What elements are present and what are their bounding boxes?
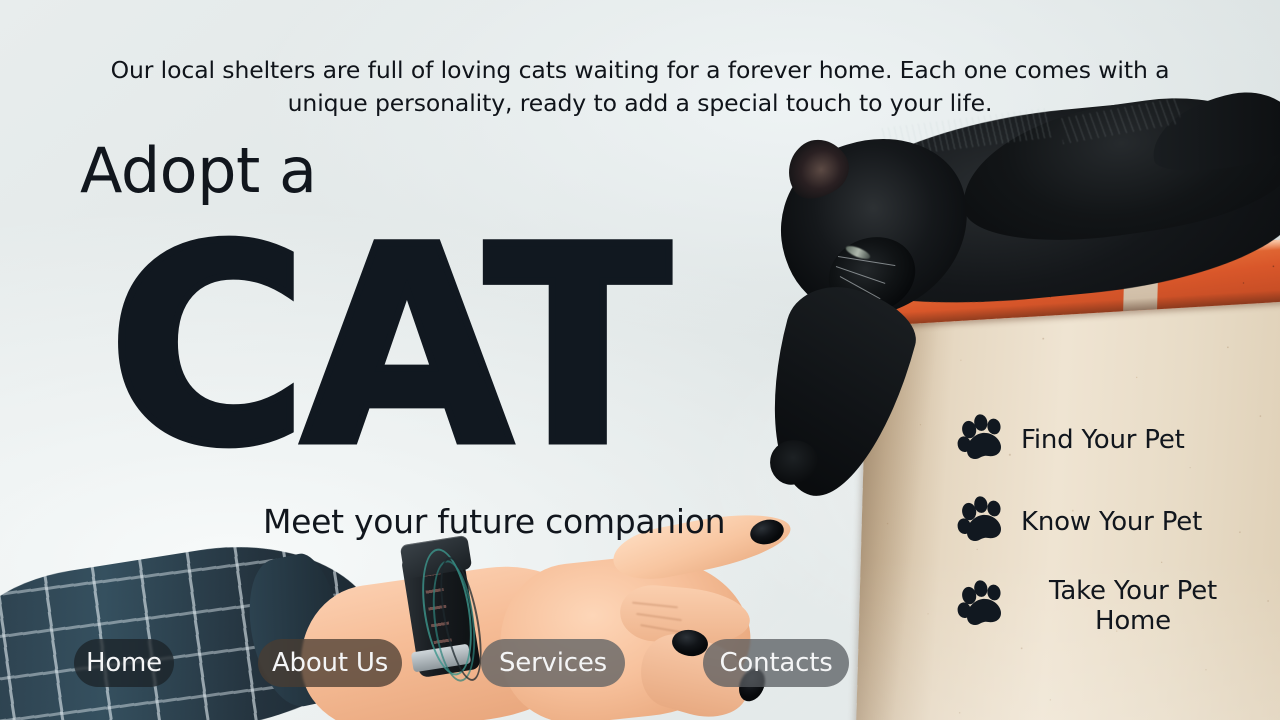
tagline: Meet your future companion	[263, 505, 725, 538]
paw-icon	[955, 494, 1011, 550]
hero-stage: Our local shelters are full of loving ca…	[0, 0, 1280, 720]
nav-item-services[interactable]: Services	[481, 639, 625, 687]
nav-item-contacts[interactable]: Contacts	[703, 639, 849, 687]
main-navigation: Home About Us Services Contacts	[0, 639, 1280, 689]
nav-item-home[interactable]: Home	[74, 639, 174, 687]
feature-item-know-your-pet[interactable]: Know Your Pet	[955, 494, 1245, 550]
paw-icon	[955, 578, 1011, 634]
feature-item-find-your-pet[interactable]: Find Your Pet	[955, 412, 1245, 468]
page-title: CAT	[108, 212, 665, 484]
feature-label: Know Your Pet	[1021, 507, 1245, 537]
intro-paragraph: Our local shelters are full of loving ca…	[90, 54, 1190, 121]
feature-list: Find Your Pet Know Your Pet	[955, 412, 1245, 636]
feature-item-take-your-pet-home[interactable]: Take Your Pet Home	[955, 576, 1245, 636]
feature-label: Take Your Pet Home	[1021, 576, 1245, 636]
nav-item-about-us[interactable]: About Us	[258, 639, 402, 687]
feature-label: Find Your Pet	[1021, 425, 1245, 455]
paw-icon	[955, 412, 1011, 468]
